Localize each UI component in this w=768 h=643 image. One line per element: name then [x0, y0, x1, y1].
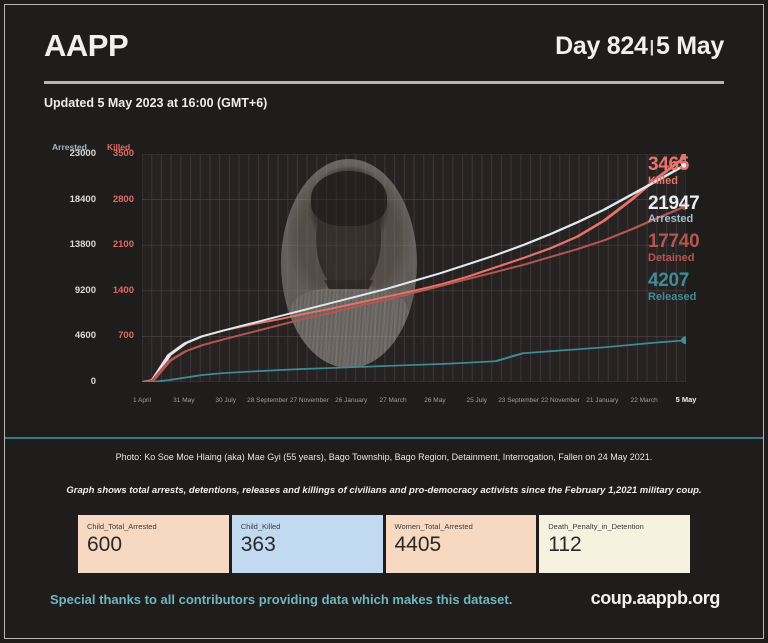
stat-arrested: 21947Arrested [648, 194, 768, 226]
stat-label-detained: Detained [648, 252, 768, 264]
stat-label-arrested: Arrested [648, 213, 768, 225]
x-tick-0: 1 April [133, 397, 151, 404]
x-tick-8: 25 July [466, 397, 487, 404]
photo-caption: Photo: Ko Soe Moe Hlaing (aka) Mae Gyi (… [44, 452, 724, 462]
date-label: 5 May [656, 32, 724, 60]
right-tick-3500: 3500 [100, 148, 134, 159]
right-tick-700: 700 [100, 330, 134, 341]
stat-killed: 3465Killed [648, 155, 768, 187]
x-tick-12: 22 March [631, 397, 658, 404]
website-url[interactable]: coup.aappb.org [591, 588, 720, 609]
card-value: 363 [241, 534, 374, 555]
card-value: 600 [87, 534, 220, 555]
x-tick-6: 27 March [380, 397, 407, 404]
stat-value-arrested: 21947 [648, 194, 768, 214]
day-date-label: Day 824|5 May [555, 32, 724, 61]
updated-timestamp: Updated 5 May 2023 at 16:00 (GMT+6) [44, 96, 267, 110]
timeseries-chart: Arrested Killed 046009200138001840023000… [44, 142, 726, 410]
poster-header: AAPP Day 824|5 May [44, 28, 724, 82]
card-label: Women_Total_Arrested [395, 522, 528, 531]
card-women_total_arrested: Women_Total_Arrested4405 [386, 515, 537, 573]
thanks-note: Special thanks to all contributors provi… [50, 592, 512, 607]
brand-title: AAPP [44, 28, 128, 64]
stat-value-released: 4207 [648, 271, 768, 291]
card-death_penalty_in_detention: Death_Penalty_in_Detention112 [539, 515, 690, 573]
stat-value-detained: 17740 [648, 232, 768, 252]
header-rule [44, 81, 724, 84]
summary-cards: Child_Total_Arrested600Child_Killed363Wo… [78, 515, 690, 573]
left-tick-4600: 4600 [44, 330, 96, 341]
right-tick-1400: 1400 [100, 285, 134, 296]
card-label: Child_Total_Arrested [87, 522, 220, 531]
series-endpoints [142, 154, 686, 382]
card-label: Death_Penalty_in_Detention [548, 522, 681, 531]
day-count: Day 824 [555, 32, 647, 60]
left-tick-9200: 9200 [44, 285, 96, 296]
stat-released: 4207Released [648, 271, 768, 303]
endpoint-released [681, 336, 686, 344]
left-tick-0: 0 [44, 376, 96, 387]
stat-value-killed: 3465 [648, 155, 768, 175]
card-child_total_arrested: Child_Total_Arrested600 [78, 515, 229, 573]
x-tick-3: 28 September [247, 397, 288, 404]
aapp-daily-update-poster: AAPP Day 824|5 May Updated 5 May 2023 at… [0, 0, 768, 643]
x-tick-7: 26 May [424, 397, 445, 404]
x-tick-5: 26 January [335, 397, 367, 404]
right-tick-2800: 2800 [100, 194, 134, 205]
day-date-separator: | [648, 37, 656, 56]
left-tick-23000: 23000 [44, 148, 96, 159]
card-value: 112 [548, 534, 681, 555]
stat-callouts: 3465Killed21947Arrested17740Detained4207… [648, 155, 768, 310]
plot-area [142, 154, 686, 382]
card-child_killed: Child_Killed363 [232, 515, 383, 573]
stat-label-released: Released [648, 291, 768, 303]
graph-note: Graph shows total arrests, detentions, r… [40, 485, 728, 496]
x-tick-4: 27 November [290, 397, 329, 404]
x-tick-1: 31 May [173, 397, 194, 404]
stat-detained: 17740Detained [648, 232, 768, 264]
x-tick-9: 23 September [498, 397, 539, 404]
x-tick-13: 5 May [676, 395, 697, 404]
stat-label-killed: Killed [648, 175, 768, 187]
right-tick-2100: 2100 [100, 239, 134, 250]
card-value: 4405 [395, 534, 528, 555]
left-tick-18400: 18400 [44, 194, 96, 205]
x-tick-10: 22 November [541, 397, 580, 404]
x-tick-11: 21 January [586, 397, 618, 404]
left-tick-13800: 13800 [44, 239, 96, 250]
x-tick-2: 30 July [215, 397, 236, 404]
section-divider [5, 437, 763, 439]
card-label: Child_Killed [241, 522, 374, 531]
